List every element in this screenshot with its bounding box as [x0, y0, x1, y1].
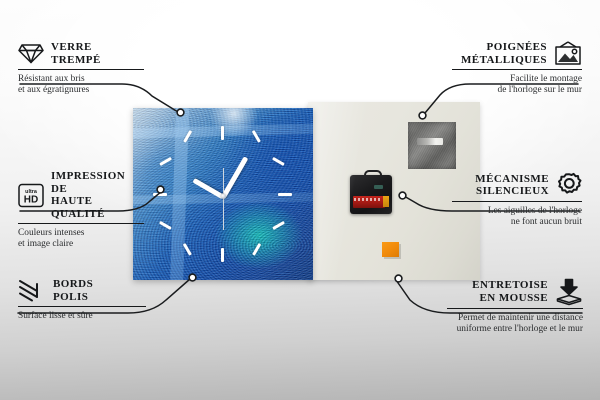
diamond-icon [18, 43, 44, 64]
callout-bords-polis[interactable]: BORDS POLIS Surface lisse et sûre [18, 278, 146, 322]
callout-subtitle: Surface lisse et sûre [18, 311, 146, 322]
battery [353, 196, 385, 208]
battery-print [354, 198, 382, 201]
hour-mark-12 [221, 126, 224, 140]
callout-divider [452, 201, 582, 202]
ultra-hd-icon: ultra HD [18, 183, 44, 208]
product-image [133, 100, 480, 282]
gear-icon [556, 172, 582, 198]
metal-hanger-plate [408, 122, 456, 169]
callout-title: MÉCANISME SILENCIEUX [475, 173, 549, 198]
callout-header: ENTRETOISE EN MOUSSE [447, 278, 583, 305]
callout-entretoise-en-mousse[interactable]: ENTRETOISE EN MOUSSE Permet de maintenir… [447, 278, 583, 336]
callout-divider [18, 69, 144, 70]
mechanism-hanger-loop [364, 170, 382, 181]
second-hand [223, 168, 225, 230]
callout-title: BORDS POLIS [53, 278, 93, 303]
hour-mark-3 [278, 193, 292, 196]
callout-poignees-metalliques[interactable]: POIGNÉES MÉTALLIQUES Facilite le montage… [452, 41, 582, 97]
down-arrow-plate-icon [555, 278, 583, 305]
callout-header: POIGNÉES MÉTALLIQUES [452, 41, 582, 66]
callout-subtitle: Permet de maintenir une distance uniform… [447, 313, 583, 336]
mechanism-body [350, 175, 392, 214]
callout-divider [18, 223, 144, 224]
callout-divider [452, 69, 582, 70]
callout-divider [18, 306, 146, 307]
callout-header: MÉCANISME SILENCIEUX [452, 172, 582, 198]
callout-divider [447, 308, 583, 309]
callout-impression-haute-qualite[interactable]: ultra HD IMPRESSION DE HAUTE QUALITÉ Cou… [18, 170, 144, 251]
callout-title: IMPRESSION DE HAUTE QUALITÉ [51, 170, 144, 220]
hanging-frame-icon [554, 41, 582, 66]
polished-edges-icon [18, 279, 46, 302]
plate-grain [408, 122, 456, 169]
callout-mecanisme-silencieux[interactable]: MÉCANISME SILENCIEUX Les aiguilles de l'… [452, 172, 582, 229]
ultra-hd-big-label: HD [24, 194, 38, 205]
callout-header: BORDS POLIS [18, 278, 146, 303]
callout-subtitle: Résistant aux bris et aux égratignures [18, 74, 144, 97]
hour-mark-9 [153, 193, 167, 196]
callout-subtitle: Les aiguilles de l'horloge ne font aucun… [452, 206, 582, 229]
foam-spacer [382, 242, 399, 257]
callout-header: ultra HD IMPRESSION DE HAUTE QUALITÉ [18, 170, 144, 220]
callout-title: ENTRETOISE EN MOUSSE [472, 279, 548, 304]
clock-center-pin [221, 194, 226, 199]
callout-title: POIGNÉES MÉTALLIQUES [461, 41, 547, 66]
callout-subtitle: Couleurs intenses et image claire [18, 228, 144, 251]
infographic-canvas: VERRE TREMPÉ Résistant aux bris et aux é… [0, 0, 600, 400]
mechanism-label [374, 185, 383, 189]
plate-slot [417, 138, 443, 145]
battery-terminal [383, 196, 389, 207]
callout-verre-trempe[interactable]: VERRE TREMPÉ Résistant aux bris et aux é… [18, 41, 144, 97]
callout-header: VERRE TREMPÉ [18, 41, 144, 66]
hour-mark-6 [221, 248, 224, 262]
callout-title: VERRE TREMPÉ [51, 41, 101, 66]
quartz-mechanism [350, 170, 392, 214]
clock-front-panel [133, 108, 313, 280]
callout-subtitle: Facilite le montage de l'horloge sur le … [452, 74, 582, 97]
